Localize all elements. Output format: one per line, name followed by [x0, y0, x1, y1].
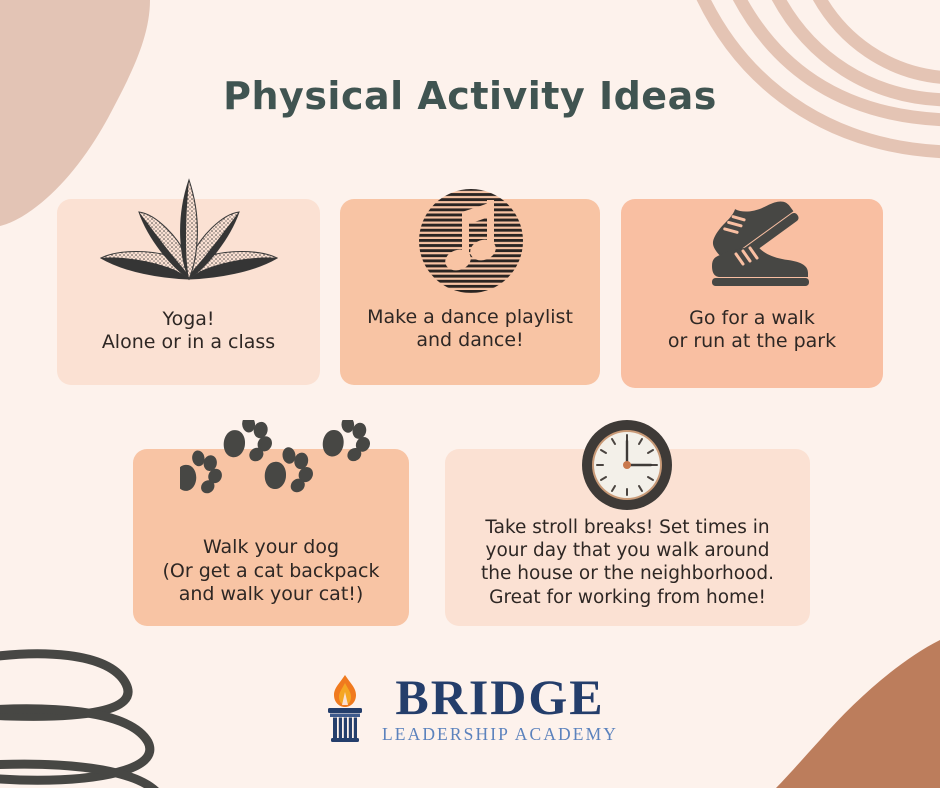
logo-tagline: LEADERSHIP ACADEMY — [382, 725, 618, 744]
torch-pillar-icon — [322, 673, 368, 743]
page-title: Physical Activity Ideas — [0, 74, 940, 118]
idea-card-dog: Walk your dog (Or get a cat backpack and… — [133, 449, 409, 626]
idea-card-dance: Make a dance playlist and dance! — [340, 199, 600, 385]
idea-card-yoga: Yoga! Alone or in a class — [57, 199, 320, 385]
bridge-leadership-academy-logo: BRIDGE LEADERSHIP ACADEMY — [0, 672, 940, 760]
idea-card-dance-text: Make a dance playlist and dance! — [340, 306, 600, 385]
idea-card-walk: Go for a walk or run at the park — [621, 199, 883, 388]
logo-name: BRIDGE — [395, 672, 604, 722]
idea-card-stroll: Take stroll breaks! Set times in your da… — [445, 449, 810, 626]
idea-card-yoga-text: Yoga! Alone or in a class — [57, 308, 320, 385]
idea-card-dog-text: Walk your dog (Or get a cat backpack and… — [133, 536, 409, 626]
idea-card-stroll-text: Take stroll breaks! Set times in your da… — [445, 516, 810, 626]
idea-card-walk-text: Go for a walk or run at the park — [621, 307, 883, 388]
